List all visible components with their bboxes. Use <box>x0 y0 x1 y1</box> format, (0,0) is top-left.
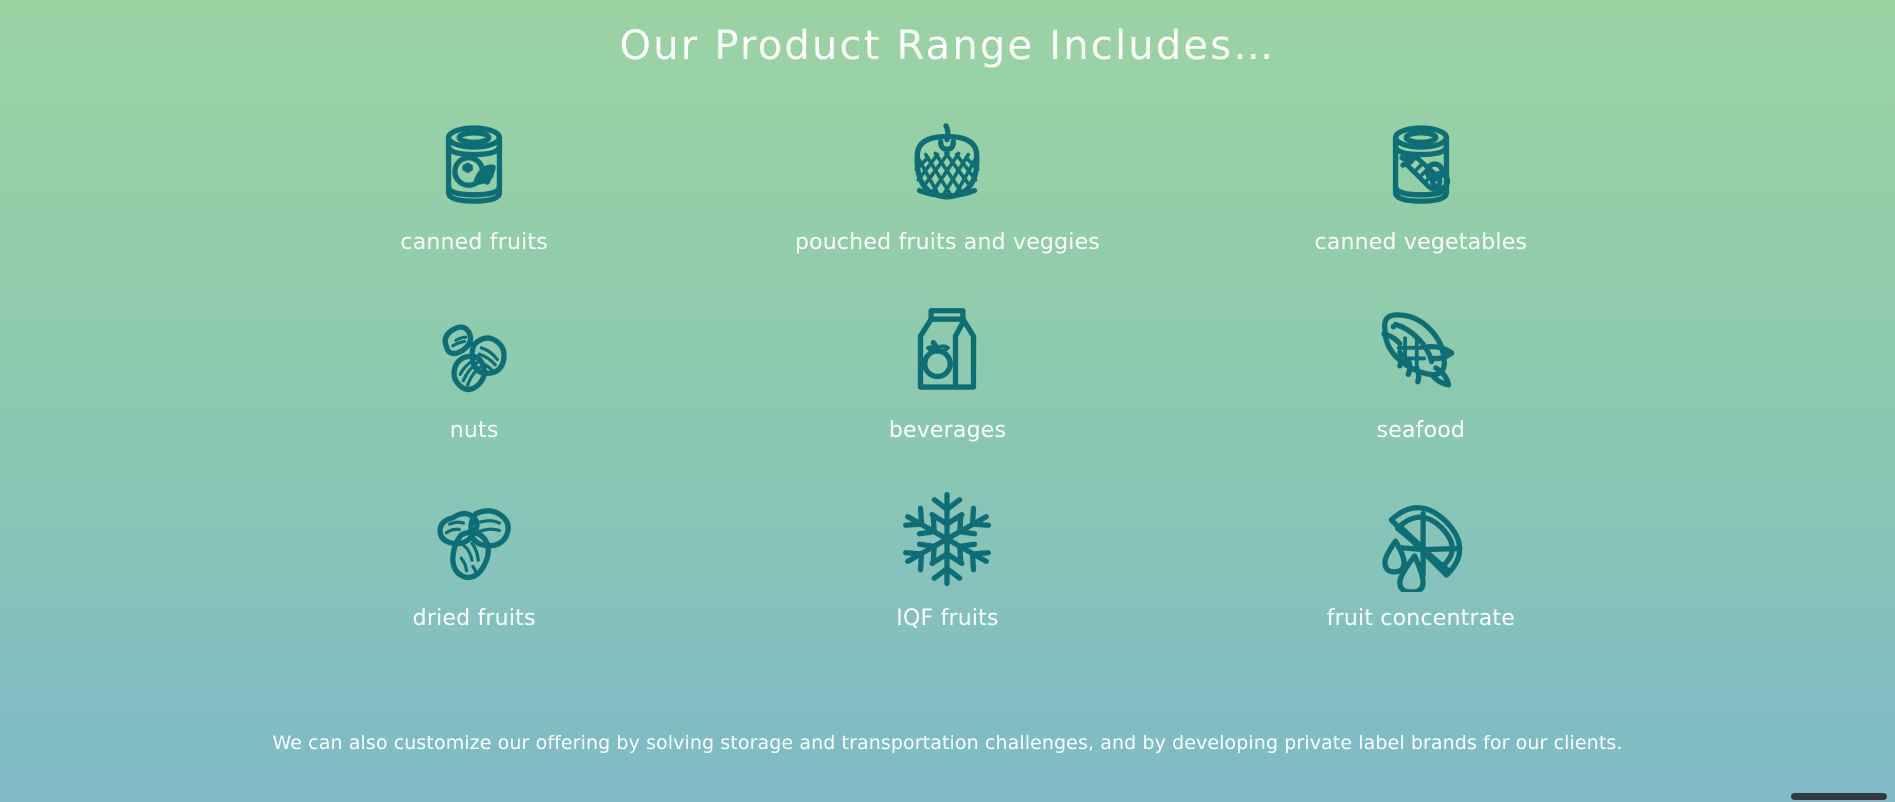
product-item-nuts[interactable]: nuts <box>304 298 644 486</box>
product-item-iqf-fruits[interactable]: IQF fruits <box>777 486 1117 674</box>
product-label: canned vegetables <box>1315 230 1528 255</box>
product-label: fruit concentrate <box>1327 606 1515 631</box>
dried-fruits-icon <box>421 486 527 592</box>
snowflake-icon <box>894 486 1000 592</box>
horizontal-scrollbar-thumb[interactable] <box>1791 793 1887 800</box>
product-label: canned fruits <box>400 230 548 255</box>
product-item-fruit-concentrate[interactable]: fruit concentrate <box>1251 486 1591 674</box>
product-item-seafood[interactable]: seafood <box>1251 298 1591 486</box>
canned-fruits-icon <box>421 110 527 216</box>
customization-note: We can also customize our offering by so… <box>0 732 1895 754</box>
product-label: seafood <box>1377 418 1466 443</box>
fish-icon <box>1368 298 1474 404</box>
product-label: nuts <box>450 418 499 443</box>
product-label: beverages <box>889 418 1006 443</box>
product-item-canned-vegetables[interactable]: canned vegetables <box>1251 110 1591 298</box>
nuts-icon <box>421 298 527 404</box>
product-label: IQF fruits <box>896 606 998 631</box>
pouched-fruits-icon <box>894 110 1000 216</box>
product-range-section: Our Product Range Includes… canned fruit… <box>0 0 1895 802</box>
product-label: dried fruits <box>413 606 536 631</box>
page-title: Our Product Range Includes… <box>620 22 1276 70</box>
product-item-dried-fruits[interactable]: dried fruits <box>304 486 644 674</box>
product-item-canned-fruits[interactable]: canned fruits <box>304 110 644 298</box>
beverage-carton-icon <box>894 298 1000 404</box>
product-item-beverages[interactable]: beverages <box>777 298 1117 486</box>
citrus-drop-icon <box>1368 486 1474 592</box>
product-grid: canned fruits pouched fruits and veggies <box>238 110 1658 674</box>
product-label: pouched fruits and veggies <box>795 230 1100 255</box>
product-item-pouched-fruits[interactable]: pouched fruits and veggies <box>777 110 1117 298</box>
canned-vegetables-icon <box>1368 110 1474 216</box>
